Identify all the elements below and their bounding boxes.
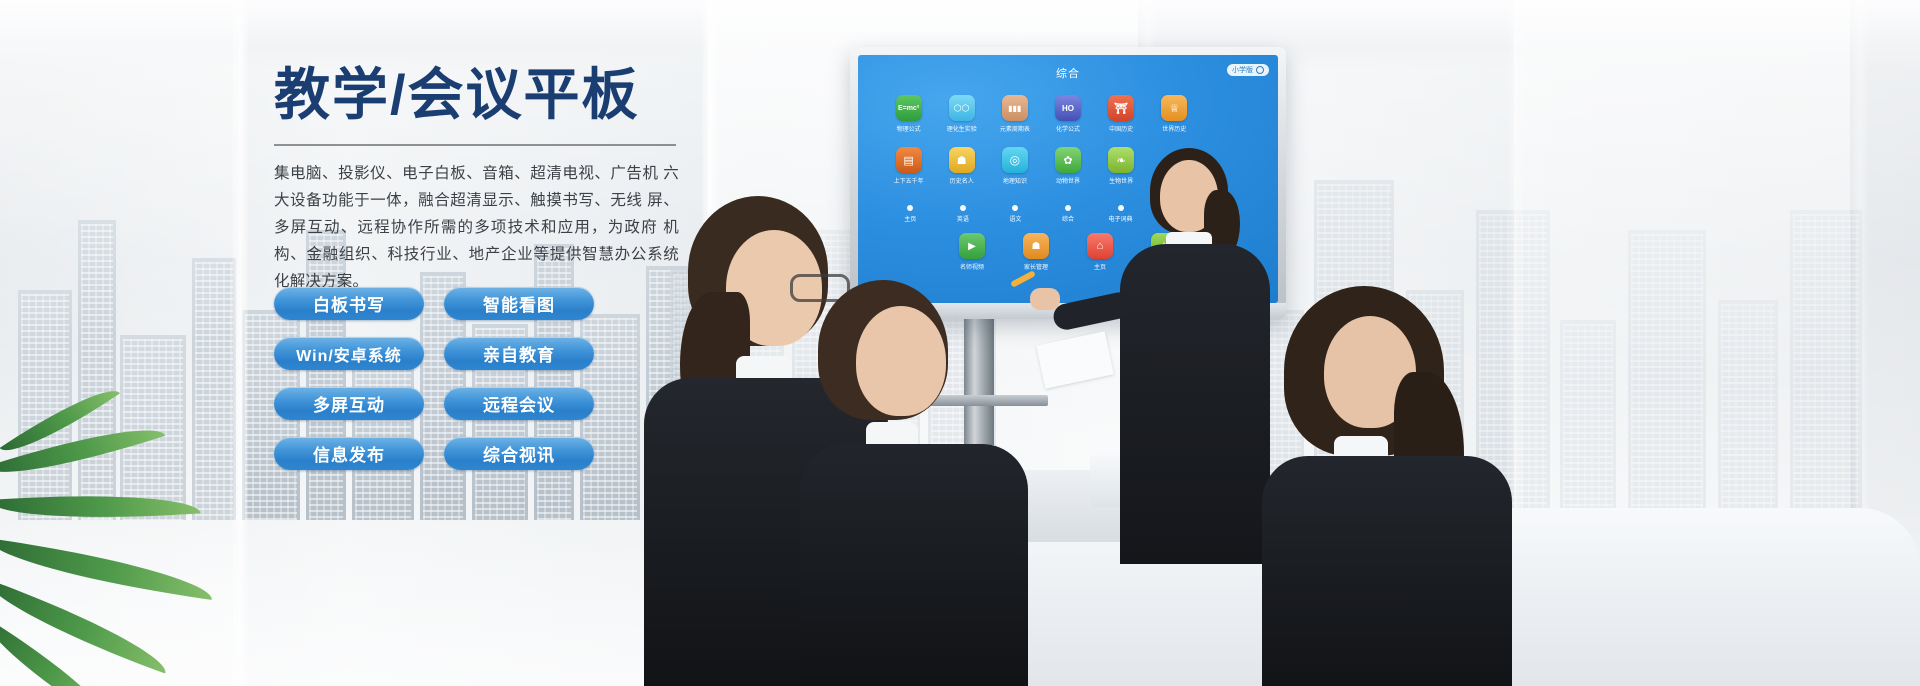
app-item[interactable]: ⛩ 中国历史	[1099, 95, 1144, 133]
tab-dot-icon	[960, 205, 966, 211]
app-icon-science-lab[interactable]: ⬡⬡	[949, 95, 975, 121]
attendee-2-head	[856, 306, 946, 416]
app-item[interactable]: ▶ 名师视频	[944, 233, 1000, 271]
presenter-body	[1120, 244, 1270, 564]
feature-button-education[interactable]: 亲自教育	[444, 337, 594, 370]
app-item[interactable]: ▮▮▮ 元素周期表	[992, 95, 1037, 133]
app-item[interactable]: ☗ 家长管理	[1008, 233, 1064, 271]
edition-badge[interactable]: 小学版	[1227, 64, 1269, 76]
tab-comprehensive[interactable]: 综合	[1044, 205, 1093, 223]
screen-title: 综合	[858, 65, 1278, 81]
attendee-3-body	[1262, 456, 1512, 686]
tab-dot-icon	[1065, 205, 1071, 211]
edition-badge-label: 小学版	[1232, 65, 1253, 75]
copy-block: 教学/会议平板 集电脑、投影仪、电子白板、音箱、超清电视、广告机 六大设备功能于…	[274, 64, 679, 295]
app-icon-geography[interactable]: ◎	[1002, 147, 1028, 173]
feature-button-whiteboard[interactable]: 白板书写	[274, 287, 424, 320]
tab-label: 英语	[957, 214, 969, 223]
title-divider	[274, 144, 676, 146]
attendee-2	[800, 280, 1030, 686]
app-icon-historic-figures[interactable]: ☗	[949, 147, 975, 173]
app-icon-animal-world[interactable]: ✿	[1055, 147, 1081, 173]
description-text: 集电脑、投影仪、电子白板、音箱、超清电视、广告机 六大设备功能于一体，融合超清显…	[274, 160, 679, 295]
app-label: 物理公式	[897, 124, 921, 133]
refresh-icon[interactable]	[1256, 66, 1264, 74]
presenter-hand	[1030, 288, 1060, 310]
feature-button-remote-meeting[interactable]: 远程会议	[444, 387, 594, 420]
app-item[interactable]: ☗ 历史名人	[939, 147, 984, 185]
feature-button-win-android[interactable]: Win/安卓系统	[274, 337, 424, 370]
tab-english[interactable]: 英语	[939, 205, 988, 223]
app-label: 中国历史	[1109, 124, 1133, 133]
tab-label: 主页	[904, 214, 916, 223]
app-item[interactable]: ♕ 世界历史	[1152, 95, 1197, 133]
app-item[interactable]: ✿ 动物世界	[1045, 147, 1090, 185]
app-label: 地理知识	[1003, 176, 1027, 185]
app-item[interactable]: ▤ 上下五千年	[886, 147, 931, 185]
app-label: 上下五千年	[894, 176, 924, 185]
tab-label: 语文	[1009, 214, 1021, 223]
app-label: 世界历史	[1162, 124, 1186, 133]
app-icon-world-history[interactable]: ♕	[1161, 95, 1187, 121]
app-label: 家长管理	[1024, 262, 1048, 271]
attendee-3	[1262, 286, 1512, 686]
tab-dot-icon	[907, 205, 913, 211]
tab-home[interactable]: 主页	[886, 205, 935, 223]
feature-button-grid: 白板书写 智能看图 Win/安卓系统 亲自教育 多屏互动 远程会议 信息发布 综…	[274, 287, 604, 470]
foreground-plant	[0, 446, 300, 686]
tab-chinese[interactable]: 语文	[991, 205, 1040, 223]
app-label: 历史名人	[950, 176, 974, 185]
app-label: 理化生实验	[947, 124, 977, 133]
hero-banner: 教学/会议平板 集电脑、投影仪、电子白板、音箱、超清电视、广告机 六大设备功能于…	[0, 0, 1920, 686]
app-icon-physics[interactable]: E=mc²	[896, 95, 922, 121]
attendee-2-body	[800, 444, 1028, 686]
app-icon-chemistry[interactable]: HO	[1055, 95, 1081, 121]
presenter	[1108, 148, 1288, 568]
app-grid-row1: E=mc² 物理公式 ⬡⬡ 理化生实验 ▮▮▮ 元素周期表 HO 化学公式 ⛩	[886, 95, 1250, 133]
feature-button-multiscreen[interactable]: 多屏互动	[274, 387, 424, 420]
feature-button-video-conference[interactable]: 综合视讯	[444, 437, 594, 470]
app-icon-teacher-video[interactable]: ▶	[959, 233, 985, 259]
app-label: 名师视频	[960, 262, 984, 271]
app-item[interactable]: ⬡⬡ 理化生实验	[939, 95, 984, 133]
app-item[interactable]: E=mc² 物理公式	[886, 95, 931, 133]
app-item[interactable]: ◎ 地理知识	[992, 147, 1037, 185]
app-icon-periodic-table[interactable]: ▮▮▮	[1002, 95, 1028, 121]
app-icon-five-thousand-years[interactable]: ▤	[896, 147, 922, 173]
app-icon-parent-control[interactable]: ☗	[1023, 233, 1049, 259]
app-icon-chinese-history[interactable]: ⛩	[1108, 95, 1134, 121]
tab-label: 综合	[1062, 214, 1074, 223]
app-label: 主页	[1094, 262, 1106, 271]
app-label: 元素周期表	[1000, 124, 1030, 133]
app-label: 动物世界	[1056, 176, 1080, 185]
app-item[interactable]: HO 化学公式	[1045, 95, 1090, 133]
app-label: 化学公式	[1056, 124, 1080, 133]
page-title: 教学/会议平板	[274, 64, 679, 126]
tab-dot-icon	[1012, 205, 1018, 211]
feature-button-smart-image[interactable]: 智能看图	[444, 287, 594, 320]
